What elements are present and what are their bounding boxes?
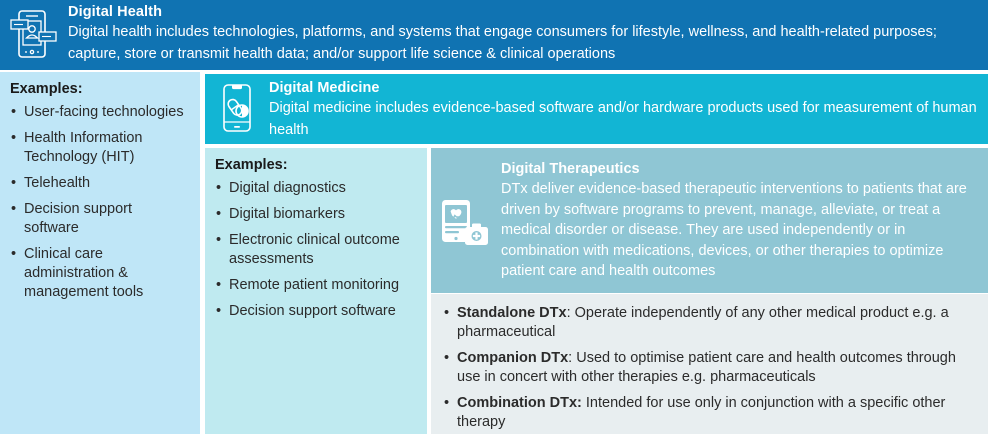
digital-health-title: Digital Health	[68, 3, 968, 22]
list-item-label: Digital biomarkers	[229, 206, 345, 222]
dtx-type-label: Standalone DTx	[457, 305, 567, 321]
digital-medicine-description: Digital medicine includes evidence-based…	[269, 98, 981, 141]
list-item: •Decision support software	[213, 302, 419, 321]
list-item: •Telehealth	[8, 174, 190, 193]
digital-medicine-band: Digital Medicine Digital medicine includ…	[205, 74, 988, 144]
digital-therapeutics-text-block: Digital Therapeutics DTx deliver evidenc…	[501, 159, 979, 282]
digital-therapeutics-types-list: •Standalone DTx: Operate independently o…	[441, 304, 976, 432]
bullet-icon: •	[216, 302, 221, 321]
digital-health-description: Digital health includes technologies, pl…	[68, 22, 968, 65]
list-item: •Combination DTx: Intended for use only …	[441, 394, 976, 432]
list-item: •Electronic clinical outcome assessments	[213, 231, 419, 269]
list-item-label: Electronic clinical outcome assessments	[229, 232, 400, 267]
digital-health-band: Digital Health Digital health includes t…	[0, 0, 988, 70]
list-item-label: Remote patient monitoring	[229, 277, 399, 293]
digital-medicine-examples-panel: Examples: •Digital diagnostics •Digital …	[205, 148, 427, 434]
phone-pills-icon	[217, 83, 257, 133]
list-item-label: Health Information Technology (HIT)	[24, 130, 142, 165]
list-item: •Health Information Technology (HIT)	[8, 129, 190, 167]
list-item: •Digital diagnostics	[213, 179, 419, 198]
digital-health-examples-heading: Examples:	[10, 81, 190, 97]
list-item-label: Digital diagnostics	[229, 180, 346, 196]
bullet-icon: •	[444, 394, 449, 413]
bullet-icon: •	[444, 304, 449, 323]
list-item: •Digital biomarkers	[213, 205, 419, 224]
digital-medicine-title: Digital Medicine	[269, 79, 981, 98]
digital-health-examples-panel: Examples: •User-facing technologies •Hea…	[0, 72, 200, 434]
bullet-icon: •	[11, 129, 16, 148]
digital-health-taxonomy-diagram: Digital Health Digital health includes t…	[0, 0, 988, 434]
list-item: •User-facing technologies	[8, 103, 190, 122]
bullet-icon: •	[11, 245, 16, 264]
list-item-label: Clinical care administration & managemen…	[24, 246, 143, 300]
dtx-type-label: Combination DTx:	[457, 395, 582, 411]
digital-health-text-block: Digital Health Digital health includes t…	[68, 3, 968, 65]
bullet-icon: •	[11, 174, 16, 193]
list-item-label: User-facing technologies	[24, 104, 184, 120]
digital-therapeutics-description: DTx deliver evidence-based therapeutic i…	[501, 179, 979, 282]
bullet-icon: •	[216, 231, 221, 250]
bullet-icon: •	[216, 205, 221, 224]
phone-heartbeat-medkit-icon	[439, 198, 491, 250]
list-item: •Remote patient monitoring	[213, 276, 419, 295]
list-item: •Standalone DTx: Operate independently o…	[441, 304, 976, 342]
bullet-icon: •	[444, 349, 449, 368]
list-item-label: Decision support software	[229, 303, 396, 319]
list-item: •Companion DTx: Used to optimise patient…	[441, 349, 976, 387]
digital-therapeutics-types-panel: •Standalone DTx: Operate independently o…	[431, 294, 988, 434]
dtx-type-label: Companion DTx	[457, 350, 568, 366]
bullet-icon: •	[216, 276, 221, 295]
digital-therapeutics-band: Digital Therapeutics DTx deliver evidenc…	[431, 148, 988, 293]
tablet-person-chat-icon	[10, 8, 58, 60]
dtx-type-separator: :	[567, 305, 575, 321]
bullet-icon: •	[216, 179, 221, 198]
list-item: •Clinical care administration & manageme…	[8, 245, 190, 302]
list-item-label: Telehealth	[24, 175, 90, 191]
digital-medicine-text-block: Digital Medicine Digital medicine includ…	[269, 79, 981, 141]
digital-therapeutics-title: Digital Therapeutics	[501, 159, 979, 179]
digital-medicine-examples-list: •Digital diagnostics •Digital biomarkers…	[213, 179, 419, 321]
bullet-icon: •	[11, 200, 16, 219]
digital-health-examples-list: •User-facing technologies •Health Inform…	[8, 103, 190, 302]
bullet-icon: •	[11, 103, 16, 122]
list-item: •Decision support software	[8, 200, 190, 238]
digital-medicine-examples-heading: Examples:	[215, 157, 419, 173]
list-item-label: Decision support software	[24, 201, 132, 236]
